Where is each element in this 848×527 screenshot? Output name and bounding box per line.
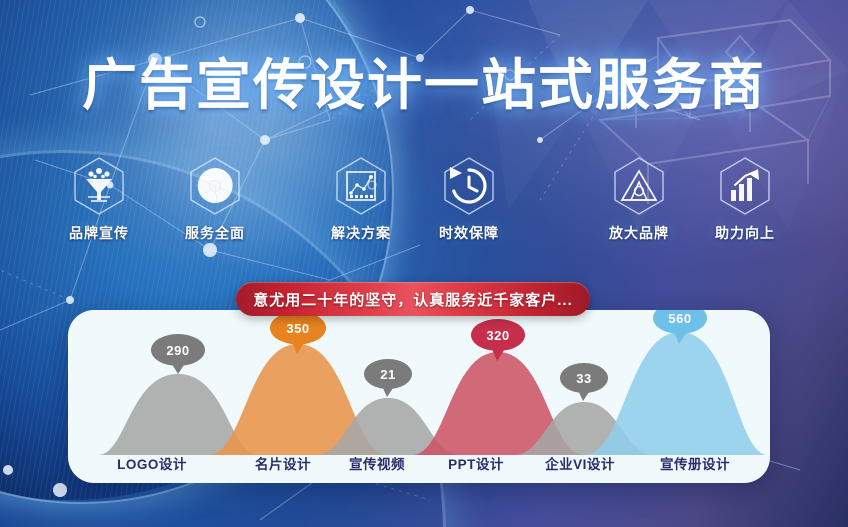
value-label: 21	[380, 367, 395, 382]
feature-label: 放大品牌	[584, 223, 694, 243]
bar-chart-up-icon	[690, 155, 800, 217]
feature-label: 解决方案	[306, 223, 416, 243]
value-label: 33	[576, 371, 591, 386]
value-bubble-350: 350	[270, 312, 326, 355]
feature-item-timeliness[interactable]: 时效保障	[414, 155, 524, 243]
feature-label: 服务全面	[160, 223, 270, 243]
aperture-icon	[160, 155, 270, 217]
feature-icon-row: 品牌宣传 服务全面	[0, 155, 848, 255]
banner-stage: 广告宣传设计一站式服务商 品牌宣传	[0, 0, 848, 527]
category-axis: LOGO设计 名片设计 宣传视频 PPT设计 企业VI设计 宣传册设计	[68, 451, 770, 475]
brand-funnel-icon	[44, 155, 154, 217]
clock-rewind-icon	[414, 155, 524, 217]
feature-item-brand[interactable]: 品牌宣传	[44, 155, 154, 243]
value-label: 320	[486, 328, 509, 343]
feature-label: 助力向上	[690, 223, 800, 243]
feature-label: 品牌宣传	[44, 223, 154, 243]
page-title: 广告宣传设计一站式服务商	[0, 58, 848, 113]
value-label: 350	[286, 321, 309, 336]
value-bubble-group: 290 350 21 320	[151, 310, 707, 401]
feature-item-growth[interactable]: 助力向上	[690, 155, 800, 243]
axis-label-video: 宣传视频	[330, 453, 424, 473]
promo-banner[interactable]: 意尤用二十年的坚守，认真服务近千家客户...	[236, 282, 590, 316]
value-label: 560	[668, 311, 691, 326]
promo-banner-text: 意尤用二十年的坚守，认真服务近千家客户...	[253, 289, 573, 310]
axis-label-booklet: 宣传册设计	[632, 453, 758, 473]
value-bubble-33: 33	[560, 363, 608, 401]
chart-card: 290 350 21 320	[68, 310, 770, 483]
feature-label: 时效保障	[414, 223, 524, 243]
value-bubble-320: 320	[471, 319, 525, 361]
curve-booklet	[584, 332, 768, 455]
axis-label-vi: 企业VI设计	[528, 453, 632, 473]
bell-curve-chart: 290 350 21 320	[68, 310, 770, 455]
feature-item-amplify[interactable]: 放大品牌	[584, 155, 694, 243]
feature-item-solution[interactable]: 解决方案	[306, 155, 416, 243]
value-bubble-21: 21	[364, 359, 412, 397]
axis-label-ppt: PPT设计	[424, 453, 528, 473]
triangle-brand-icon	[584, 155, 694, 217]
axis-label-mingpian: 名片设计	[236, 453, 330, 473]
axis-label-logo: LOGO设计	[68, 453, 236, 473]
value-bubble-290: 290	[151, 334, 205, 374]
chart-network-icon	[306, 155, 416, 217]
value-label: 290	[166, 343, 189, 358]
feature-item-service[interactable]: 服务全面	[160, 155, 270, 243]
